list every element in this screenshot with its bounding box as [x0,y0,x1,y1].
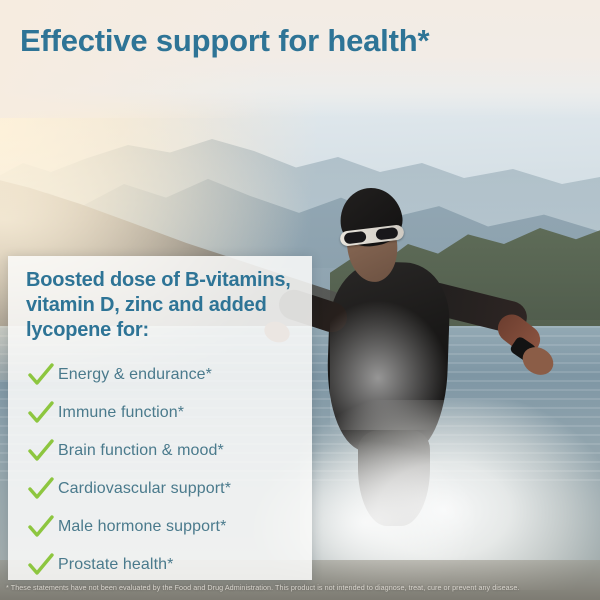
list-item: Energy & endurance* [24,356,312,394]
benefit-label: Male hormone support* [58,518,226,536]
benefit-label: Energy & endurance* [58,366,212,384]
promo-banner: Effective support for health* Boosted do… [0,0,600,600]
benefit-label: Cardiovascular support* [58,480,231,498]
check-icon [24,439,58,463]
benefits-card: Boosted dose of B-vitamins, vitamin D, z… [8,256,312,580]
header-band-warm-tint [0,0,260,118]
fda-disclaimer: * These statements have not been evaluat… [6,583,596,592]
benefit-label: Immune function* [58,404,184,422]
goggle-lens-right [375,227,398,241]
page-title: Effective support for health* [20,24,580,58]
check-icon [24,515,58,539]
check-icon [24,401,58,425]
benefits-list: Energy & endurance* Immune function* Bra… [24,356,312,584]
check-icon [24,477,58,501]
list-item: Male hormone support* [24,508,312,546]
benefit-label: Prostate health* [58,556,173,574]
list-item: Cardiovascular support* [24,470,312,508]
check-icon [24,363,58,387]
benefit-label: Brain function & mood* [58,442,224,460]
benefits-card-title: Boosted dose of B-vitamins, vitamin D, z… [26,268,294,344]
list-item: Prostate health* [24,546,312,584]
check-icon [24,553,58,577]
list-item: Immune function* [24,394,312,432]
list-item: Brain function & mood* [24,432,312,470]
